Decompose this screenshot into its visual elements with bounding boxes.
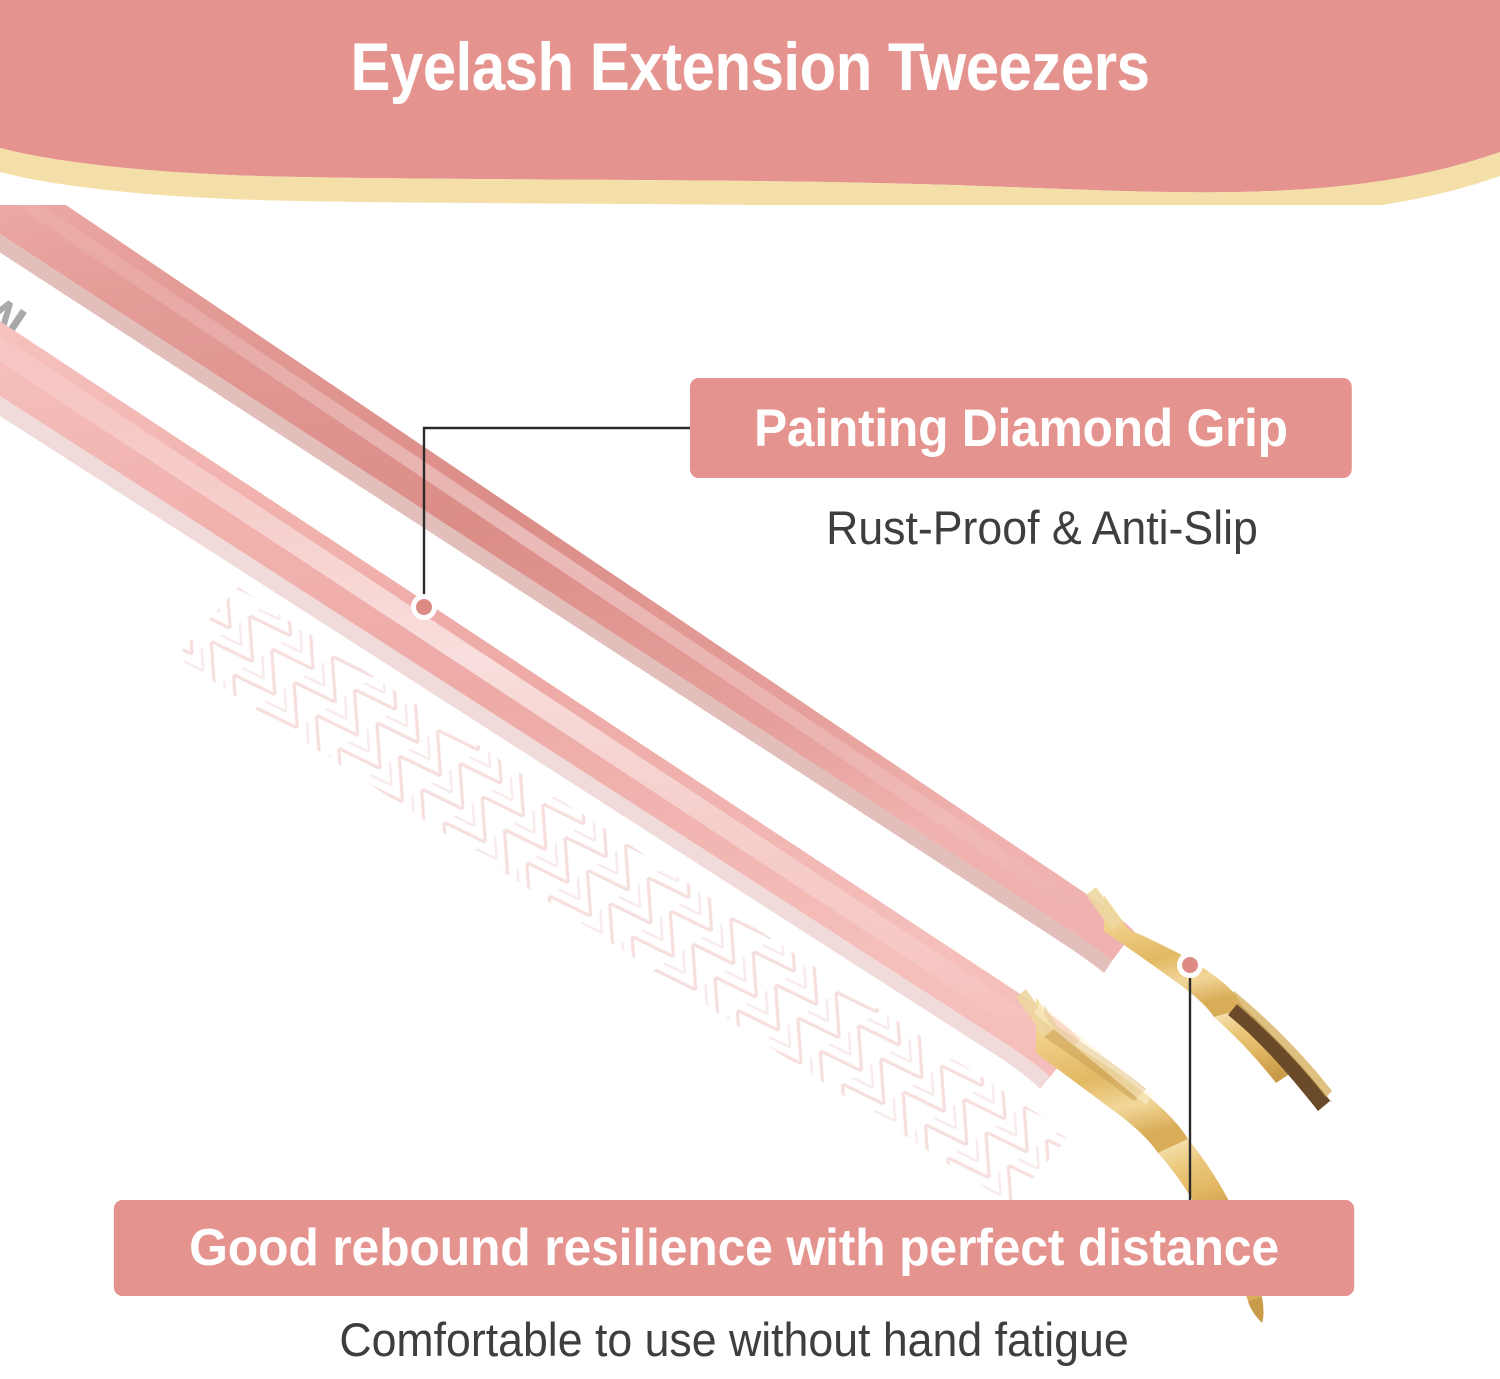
page-title: Eyelash Extension Tweezers — [90, 32, 1410, 103]
callout-rebound-label: Good rebound resilience with perfect dis… — [114, 1200, 1354, 1296]
callout-grip-subtext: Rust-Proof & Anti-Slip — [708, 500, 1377, 555]
upper-tip-gold — [1104, 895, 1244, 1017]
upper-tip-dark-point — [1228, 1003, 1330, 1111]
header-banner: Eyelash Extension Tweezers — [0, 0, 1500, 205]
tip-point-marker — [1177, 952, 1203, 978]
callout-rebound-subtext: Comfortable to use without hand fatigue — [120, 1312, 1347, 1367]
grip-point-marker — [411, 594, 437, 620]
callout-grip-label: Painting Diamond Grip — [690, 378, 1352, 478]
